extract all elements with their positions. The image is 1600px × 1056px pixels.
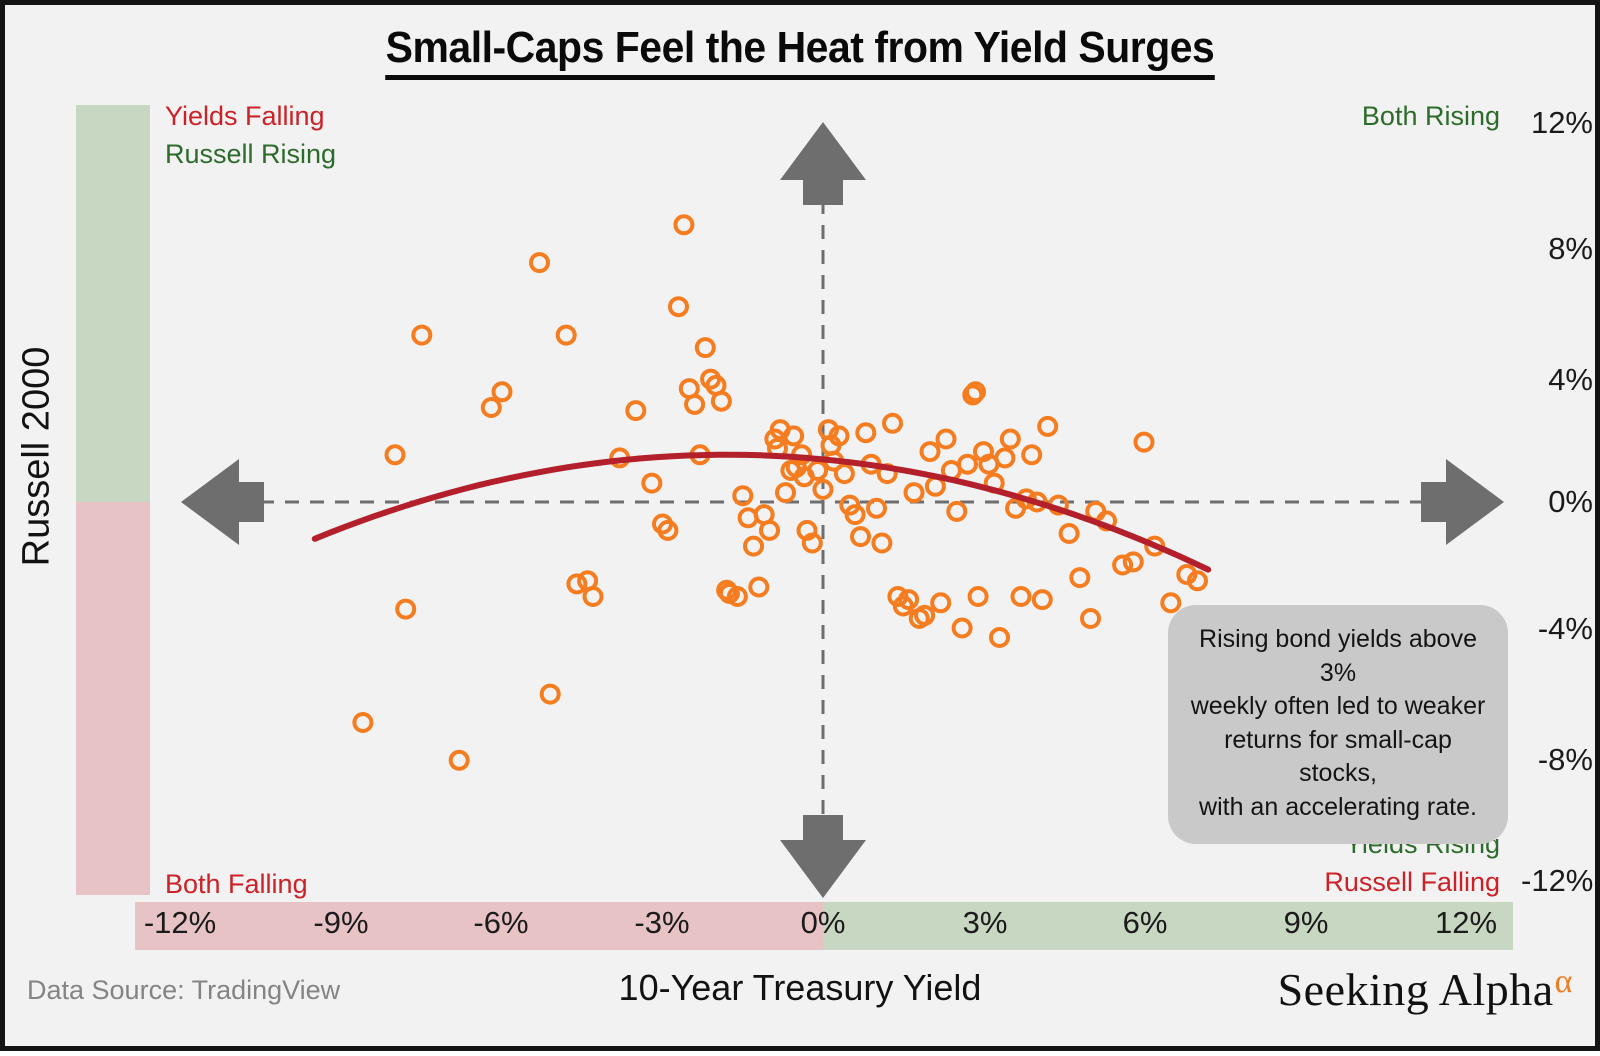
scatter-point: [1023, 446, 1040, 463]
scatter-point: [387, 446, 404, 463]
scatter-point: [970, 588, 987, 605]
scatter-point: [697, 339, 714, 356]
scatter-point: [938, 431, 955, 448]
scatter-point: [745, 538, 762, 555]
scatter-point: [354, 714, 371, 731]
scatter-point: [932, 594, 949, 611]
arrow-left-icon: [181, 459, 264, 545]
scatter-point: [1071, 569, 1088, 586]
callout-line: returns for small-cap stocks,: [1184, 724, 1492, 791]
scatter-point: [531, 254, 548, 271]
scatter-point: [857, 424, 874, 441]
scatter-markers: [354, 216, 1206, 769]
scatter-point: [686, 396, 703, 413]
scatter-point: [483, 399, 500, 416]
scatter-point: [413, 327, 430, 344]
scatter-point: [852, 528, 869, 545]
scatter-point: [494, 383, 511, 400]
scatter-point: [1039, 418, 1056, 435]
scatter-point: [643, 475, 660, 492]
plot-area: [5, 5, 1600, 1056]
scatter-point: [675, 216, 692, 233]
scatter-point: [991, 629, 1008, 646]
scatter-point: [959, 456, 976, 473]
brand-name: Seeking Alpha: [1278, 964, 1554, 1015]
scatter-point: [1061, 525, 1078, 542]
scatter-point: [777, 484, 794, 501]
scatter-point: [713, 393, 730, 410]
callout-line: Rising bond yields above 3%: [1184, 623, 1492, 690]
scatter-point: [585, 588, 602, 605]
scatter-point: [750, 579, 767, 596]
scatter-point: [397, 601, 414, 618]
callout-line: weekly often led to weaker: [1184, 690, 1492, 724]
scatter-point: [836, 465, 853, 482]
scatter-point: [884, 415, 901, 432]
scatter-point: [670, 298, 687, 315]
scatter-point: [761, 522, 778, 539]
scatter-point: [906, 484, 923, 501]
scatter-point: [542, 686, 559, 703]
scatter-point: [873, 535, 890, 552]
alpha-icon: α: [1555, 963, 1573, 1000]
arrow-up-icon: [780, 122, 866, 205]
scatter-point: [948, 503, 965, 520]
scatter-point: [1034, 591, 1051, 608]
scatter-point: [1013, 588, 1030, 605]
scatter-point: [868, 500, 885, 517]
chart-figure: Small-Caps Feel the Heat from Yield Surg…: [0, 0, 1600, 1051]
callout-line: with an accelerating rate.: [1184, 791, 1492, 825]
brand-logo: Seeking Alphaα: [1278, 963, 1573, 1016]
arrow-down-icon: [780, 815, 866, 898]
arrow-right-icon: [1421, 459, 1504, 545]
annotation-callout: Rising bond yields above 3% weekly often…: [1168, 605, 1508, 844]
scatter-point: [1002, 431, 1019, 448]
scatter-point: [1162, 594, 1179, 611]
scatter-point: [996, 449, 1013, 466]
scatter-point: [558, 327, 575, 344]
scatter-point: [922, 443, 939, 460]
scatter-point: [1082, 610, 1099, 627]
data-source-label: Data Source: TradingView: [27, 975, 340, 1006]
scatter-point: [627, 402, 644, 419]
scatter-point: [451, 752, 468, 769]
scatter-point: [1136, 434, 1153, 451]
scatter-point: [954, 620, 971, 637]
scatter-point: [1125, 553, 1142, 570]
